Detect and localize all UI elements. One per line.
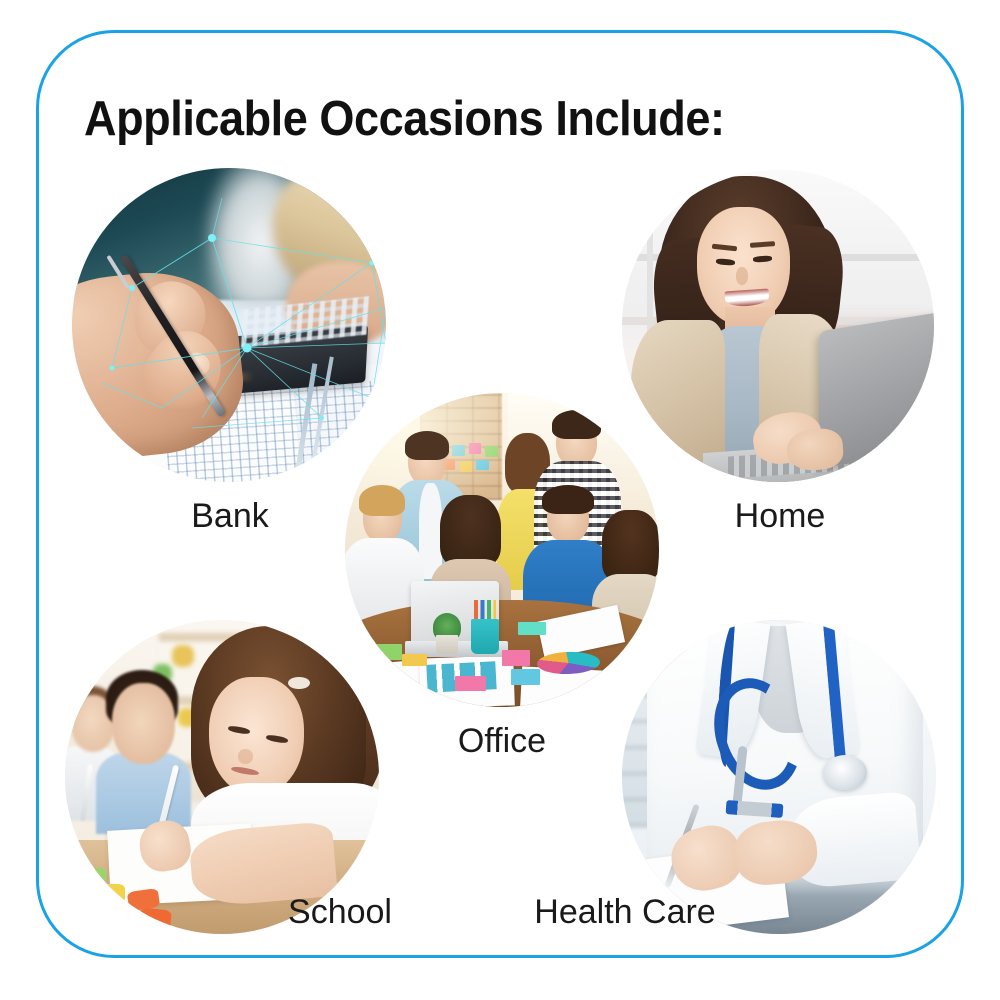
network-overlay-icon xyxy=(72,168,386,482)
occasion-label-bank: Bank xyxy=(100,497,360,536)
occasion-image-bank xyxy=(72,168,386,482)
occasion-label-office: Office xyxy=(340,722,664,761)
occasion-label-health-care: Health Care xyxy=(460,893,790,932)
bank-scene-illustration xyxy=(72,168,386,482)
health-care-scene-illustration xyxy=(622,620,936,934)
office-scene-illustration xyxy=(345,393,659,707)
occasion-image-office xyxy=(345,393,659,707)
occasion-image-school xyxy=(65,620,379,934)
applicable-occasions-poster: Applicable Occasions Include: xyxy=(0,0,1000,1000)
home-scene-illustration xyxy=(622,170,934,482)
occasion-image-health-care xyxy=(622,620,936,934)
page-title: Applicable Occasions Include: xyxy=(84,91,725,147)
occasion-label-home: Home xyxy=(650,497,910,536)
occasion-image-home xyxy=(622,170,934,482)
occasion-label-school: School xyxy=(210,893,470,932)
school-scene-illustration xyxy=(65,620,379,934)
